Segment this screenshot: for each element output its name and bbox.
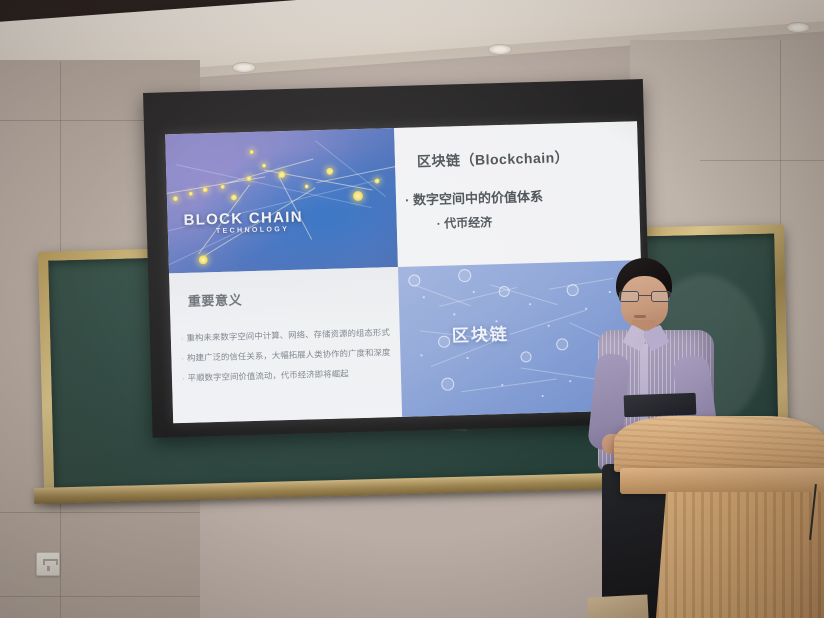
- slide-quadrant-blockchain-graphic: BLOCK CHAIN TECHNOLOGY: [165, 128, 398, 273]
- blockchain-graphic-subhead: TECHNOLOGY: [216, 226, 290, 235]
- podium-top: [614, 416, 824, 472]
- presentation-slide: BLOCK CHAIN TECHNOLOGY 区块链（Blockchain） ·…: [165, 121, 645, 423]
- bullet-dot-icon: ·: [182, 373, 185, 385]
- slide-title: 区块链（Blockchain）: [417, 147, 570, 171]
- downlight-icon: [786, 22, 810, 33]
- significance-item-3: 平顺数字空间价值流动，代币经济即将崛起: [188, 368, 349, 383]
- bullet-marker: ·: [437, 217, 441, 231]
- map-node-icon: [438, 336, 450, 348]
- power-outlet-icon: [36, 552, 60, 576]
- bullet-2-text: 代币经济: [444, 215, 492, 230]
- significance-item-2: 构建广泛的信任关系，大幅拓展人类协作的广度和深度: [187, 347, 391, 364]
- map-node-icon: [458, 269, 471, 282]
- map-node-icon: [499, 286, 510, 297]
- slide-bullet-2: · 代币经济: [437, 213, 493, 232]
- significance-list: · 重构未来数字空间中计算、网络、存储资源的组态形式 · 构建广泛的信任关系，大…: [181, 327, 401, 393]
- floor-object: [587, 594, 648, 618]
- significance-heading: 重要意义: [188, 289, 243, 310]
- significance-item-1: 重构未来数字空间中计算、网络、存储资源的组态形式: [186, 327, 390, 344]
- slide-bullet-1: · 数字空间中的价值体系: [405, 186, 543, 209]
- wall-panel-seam: [0, 512, 200, 513]
- podium-body: [656, 492, 824, 618]
- bullet-dot-icon: ·: [181, 353, 184, 365]
- bullet-1-text: 数字空间中的价值体系: [413, 189, 543, 208]
- list-item: · 构建广泛的信任关系，大幅拓展人类协作的广度和深度: [181, 347, 399, 365]
- downlight-icon: [232, 62, 256, 73]
- projector-screen: BLOCK CHAIN TECHNOLOGY 区块链（Blockchain） ·…: [143, 79, 652, 438]
- map-node-icon: [520, 351, 531, 362]
- map-node-icon: [408, 274, 420, 286]
- map-panel-label: 区块链: [451, 320, 509, 347]
- list-item: · 重构未来数字空间中计算、网络、存储资源的组态形式: [181, 327, 399, 345]
- bullet-dot-icon: ·: [181, 333, 184, 345]
- laptop-icon: [624, 393, 697, 417]
- slide-quadrant-title: 区块链（Blockchain） · 数字空间中的价值体系 · 代币经济: [394, 121, 641, 267]
- podium: [614, 408, 824, 618]
- map-node-icon: [567, 284, 579, 296]
- bullet-marker: ·: [405, 193, 410, 208]
- speaker-mouth: [634, 315, 646, 318]
- wall-panel-seam: [700, 160, 824, 161]
- list-item: · 平顺数字空间价值流动，代币经济即将崛起: [182, 367, 400, 385]
- slide-quadrant-significance: 重要意义 · 重构未来数字空间中计算、网络、存储资源的组态形式 · 构建广泛的信…: [169, 267, 402, 423]
- wall-panel-seam: [0, 596, 200, 597]
- map-node-icon: [441, 377, 454, 390]
- podium-lip: [620, 468, 824, 494]
- glasses-icon: [619, 291, 671, 302]
- map-node-icon: [556, 338, 568, 350]
- downlight-icon: [488, 44, 512, 55]
- classroom-photo: BLOCK CHAIN TECHNOLOGY 区块链（Blockchain） ·…: [0, 0, 824, 618]
